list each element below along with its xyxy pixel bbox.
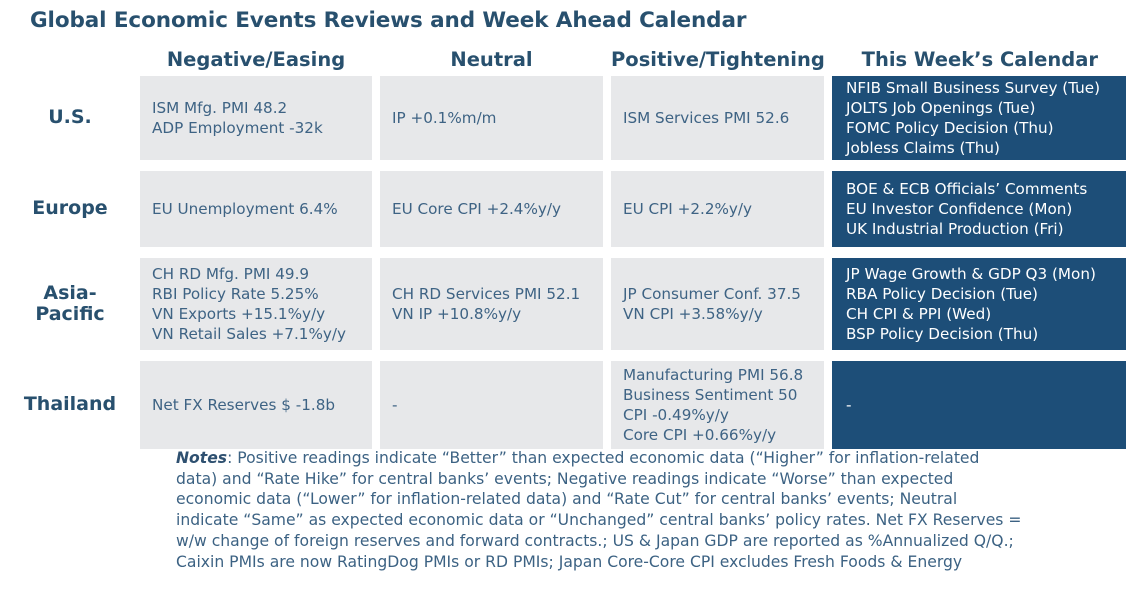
- slide-root: Global Economic Events Reviews and Week …: [0, 0, 1132, 597]
- cell-gap: [824, 258, 832, 350]
- column-header-negative: Negative/Easing: [140, 48, 372, 71]
- row-label-europe: Europe: [0, 171, 140, 247]
- cell-gap: [372, 76, 380, 160]
- cell-line: Core CPI +0.66%y/y: [623, 425, 824, 445]
- table-row: Europe EU Unemployment 6.4% EU Core CPI …: [0, 171, 1132, 247]
- cell-us-calendar: NFIB Small Business Survey (Tue)JOLTS Jo…: [832, 76, 1126, 160]
- notes-label: Notes: [176, 449, 227, 467]
- cell-gap: [603, 361, 611, 449]
- cell-europe-negative: EU Unemployment 6.4%: [140, 171, 372, 247]
- cell-line: ADP Employment -32k: [152, 118, 372, 138]
- cell-thailand-positive: Manufacturing PMI 56.8Business Sentiment…: [611, 361, 824, 449]
- cell-europe-neutral: EU Core CPI +2.4%y/y: [380, 171, 603, 247]
- cell-line: Jobless Claims (Thu): [846, 138, 1126, 158]
- cell-line: VN IP +10.8%y/y: [392, 304, 603, 324]
- events-table: Negative/Easing Neutral Positive/Tighten…: [0, 42, 1132, 460]
- cell-line: ISM Mfg. PMI 48.2: [152, 98, 372, 118]
- cell-line: FOMC Policy Decision (Thu): [846, 118, 1126, 138]
- cell-thailand-negative: Net FX Reserves $ -1.8b: [140, 361, 372, 449]
- cell-us-negative: ISM Mfg. PMI 48.2ADP Employment -32k: [140, 76, 372, 160]
- notes-line-0: : Positive readings indicate “Better” th…: [227, 449, 979, 467]
- cell-line: EU CPI +2.2%y/y: [623, 199, 824, 219]
- cell-line: BOE & ECB Officials’ Comments: [846, 179, 1126, 199]
- cell-gap: [824, 171, 832, 247]
- cell-line: Net FX Reserves $ -1.8b: [152, 395, 372, 415]
- row-label-asia-pacific: Asia- Pacific: [0, 258, 140, 350]
- cell-line: EU Investor Confidence (Mon): [846, 199, 1126, 219]
- cell-line: BSP Policy Decision (Thu): [846, 324, 1126, 344]
- cell-thailand-calendar: -: [832, 361, 1126, 449]
- cell-line: VN Exports +15.1%y/y: [152, 304, 372, 324]
- cell-us-positive: ISM Services PMI 52.6: [611, 76, 824, 160]
- page-title: Global Economic Events Reviews and Week …: [30, 8, 746, 33]
- cell-asia-pacific-positive: JP Consumer Conf. 37.5VN CPI +3.58%y/y: [611, 258, 824, 350]
- cell-line: CH RD Services PMI 52.1: [392, 284, 603, 304]
- table-column-headers: Negative/Easing Neutral Positive/Tighten…: [0, 42, 1132, 76]
- cell-line: RBI Policy Rate 5.25%: [152, 284, 372, 304]
- cell-line: JOLTS Job Openings (Tue): [846, 98, 1126, 118]
- notes-line-1-row: data) and “Rate Hike” for central banks’…: [176, 469, 1126, 490]
- column-header-calendar: This Week’s Calendar: [833, 48, 1127, 71]
- cell-line: UK Industrial Production (Fri): [846, 219, 1126, 239]
- row-label-thailand: Thailand: [0, 361, 140, 449]
- cell-line: CH RD Mfg. PMI 49.9: [152, 264, 372, 284]
- cell-gap: [372, 171, 380, 247]
- cell-line: EU Unemployment 6.4%: [152, 199, 372, 219]
- notes-line-3-row: indicate “Same” as expected economic dat…: [176, 510, 1126, 531]
- table-row: Thailand Net FX Reserves $ -1.8b - Manuf…: [0, 361, 1132, 449]
- cell-asia-pacific-negative: CH RD Mfg. PMI 49.9RBI Policy Rate 5.25%…: [140, 258, 372, 350]
- cell-us-neutral: IP +0.1%m/m: [380, 76, 603, 160]
- cell-gap: [824, 76, 832, 160]
- cell-gap: [372, 258, 380, 350]
- cell-gap: [372, 361, 380, 449]
- cell-line: NFIB Small Business Survey (Tue): [846, 78, 1126, 98]
- notes-block: Notes: Positive readings indicate “Bette…: [176, 448, 1126, 572]
- table-row: Asia- Pacific CH RD Mfg. PMI 49.9RBI Pol…: [0, 258, 1132, 350]
- cell-thailand-neutral: -: [380, 361, 603, 449]
- cell-line: CH CPI & PPI (Wed): [846, 304, 1126, 324]
- cell-asia-pacific-neutral: CH RD Services PMI 52.1VN IP +10.8%y/y: [380, 258, 603, 350]
- table-row: U.S. ISM Mfg. PMI 48.2ADP Employment -32…: [0, 76, 1132, 160]
- cell-line: JP Wage Growth & GDP Q3 (Mon): [846, 264, 1126, 284]
- cell-line: RBA Policy Decision (Tue): [846, 284, 1126, 304]
- cell-gap: [603, 76, 611, 160]
- column-header-positive: Positive/Tightening: [611, 48, 825, 71]
- notes-line-2-row: economic data (“Lower” for inflation-rel…: [176, 489, 1126, 510]
- cell-asia-pacific-calendar: JP Wage Growth & GDP Q3 (Mon)RBA Policy …: [832, 258, 1126, 350]
- cell-europe-positive: EU CPI +2.2%y/y: [611, 171, 824, 247]
- row-label-us: U.S.: [0, 76, 140, 160]
- cell-line: -: [392, 395, 603, 415]
- notes-first-line: Notes: Positive readings indicate “Bette…: [176, 448, 1126, 469]
- notes-line-4-row: w/w change of foreign reserves and forwa…: [176, 531, 1126, 552]
- cell-line: CPI -0.49%y/y: [623, 405, 824, 425]
- cell-line: -: [846, 395, 1126, 415]
- cell-line: EU Core CPI +2.4%y/y: [392, 199, 603, 219]
- cell-line: VN Retail Sales +7.1%y/y: [152, 324, 372, 344]
- cell-line: IP +0.1%m/m: [392, 108, 603, 128]
- notes-line-5-row: Caixin PMIs are now RatingDog PMIs or RD…: [176, 552, 1126, 573]
- cell-line: Business Sentiment 50: [623, 385, 824, 405]
- cell-gap: [603, 171, 611, 247]
- cell-line: VN CPI +3.58%y/y: [623, 304, 824, 324]
- column-header-neutral: Neutral: [380, 48, 603, 71]
- cell-gap: [603, 258, 611, 350]
- cell-line: Manufacturing PMI 56.8: [623, 365, 824, 385]
- cell-line: ISM Services PMI 52.6: [623, 108, 824, 128]
- cell-line: JP Consumer Conf. 37.5: [623, 284, 824, 304]
- cell-europe-calendar: BOE & ECB Officials’ CommentsEU Investor…: [832, 171, 1126, 247]
- cell-gap: [824, 361, 832, 449]
